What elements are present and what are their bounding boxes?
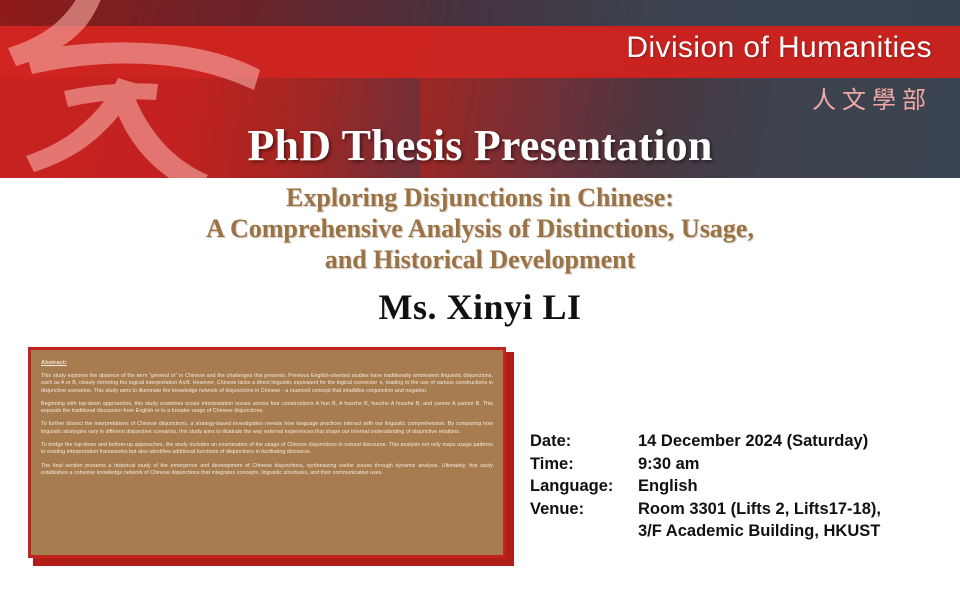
abstract-paragraph: Beginning with top-down approaches, this…: [41, 401, 493, 416]
page-title: Exploring Disjunctions in Chinese: A Com…: [0, 182, 960, 275]
detail-value-language: English: [638, 475, 950, 498]
detail-value-time: 9:30 am: [638, 453, 950, 476]
detail-label-venue: Venue:: [530, 498, 638, 521]
detail-value-date: 14 December 2024 (Saturday): [638, 430, 950, 453]
thesis-title-line-3: and Historical Development: [0, 244, 960, 275]
abstract-paragraph: The final section presents a historical …: [41, 463, 493, 478]
header-banner: Division of Humanities 人文學部 PhD Thesis P…: [0, 0, 960, 178]
abstract-box: Abstract: This study explores the absenc…: [28, 347, 506, 558]
abstract-label: Abstract:: [41, 359, 493, 367]
abstract-paragraph: To bridge the top-down and bottom-up app…: [41, 442, 493, 457]
detail-row-time: Time: 9:30 am: [530, 453, 950, 476]
detail-label-date: Date:: [530, 430, 638, 453]
speaker-name: Ms. Xinyi LI: [0, 286, 960, 328]
thesis-title-line-1: Exploring Disjunctions in Chinese:: [0, 182, 960, 213]
detail-value-venue: Room 3301 (Lifts 2, Lifts17-18),: [638, 498, 950, 521]
detail-label-language: Language:: [530, 475, 638, 498]
abstract-paragraph: This study explores the absence of the t…: [41, 373, 493, 395]
division-name-chinese: 人文學部: [812, 80, 932, 115]
detail-row-date: Date: 14 December 2024 (Saturday): [530, 430, 950, 453]
abstract-paragraph: To further dissect the interpretations o…: [41, 421, 493, 436]
detail-row-language: Language: English: [530, 475, 950, 498]
detail-label-time: Time:: [530, 453, 638, 476]
detail-value-venue-line-2: 3/F Academic Building, HKUST: [638, 520, 950, 543]
thesis-title-line-2: A Comprehensive Analysis of Distinctions…: [0, 213, 960, 244]
division-name-english: Division of Humanities: [626, 31, 932, 65]
event-type-heading: PhD Thesis Presentation: [0, 120, 960, 171]
detail-row-venue: Venue: Room 3301 (Lifts 2, Lifts17-18),: [530, 498, 950, 521]
event-details: Date: 14 December 2024 (Saturday) Time: …: [530, 430, 950, 543]
